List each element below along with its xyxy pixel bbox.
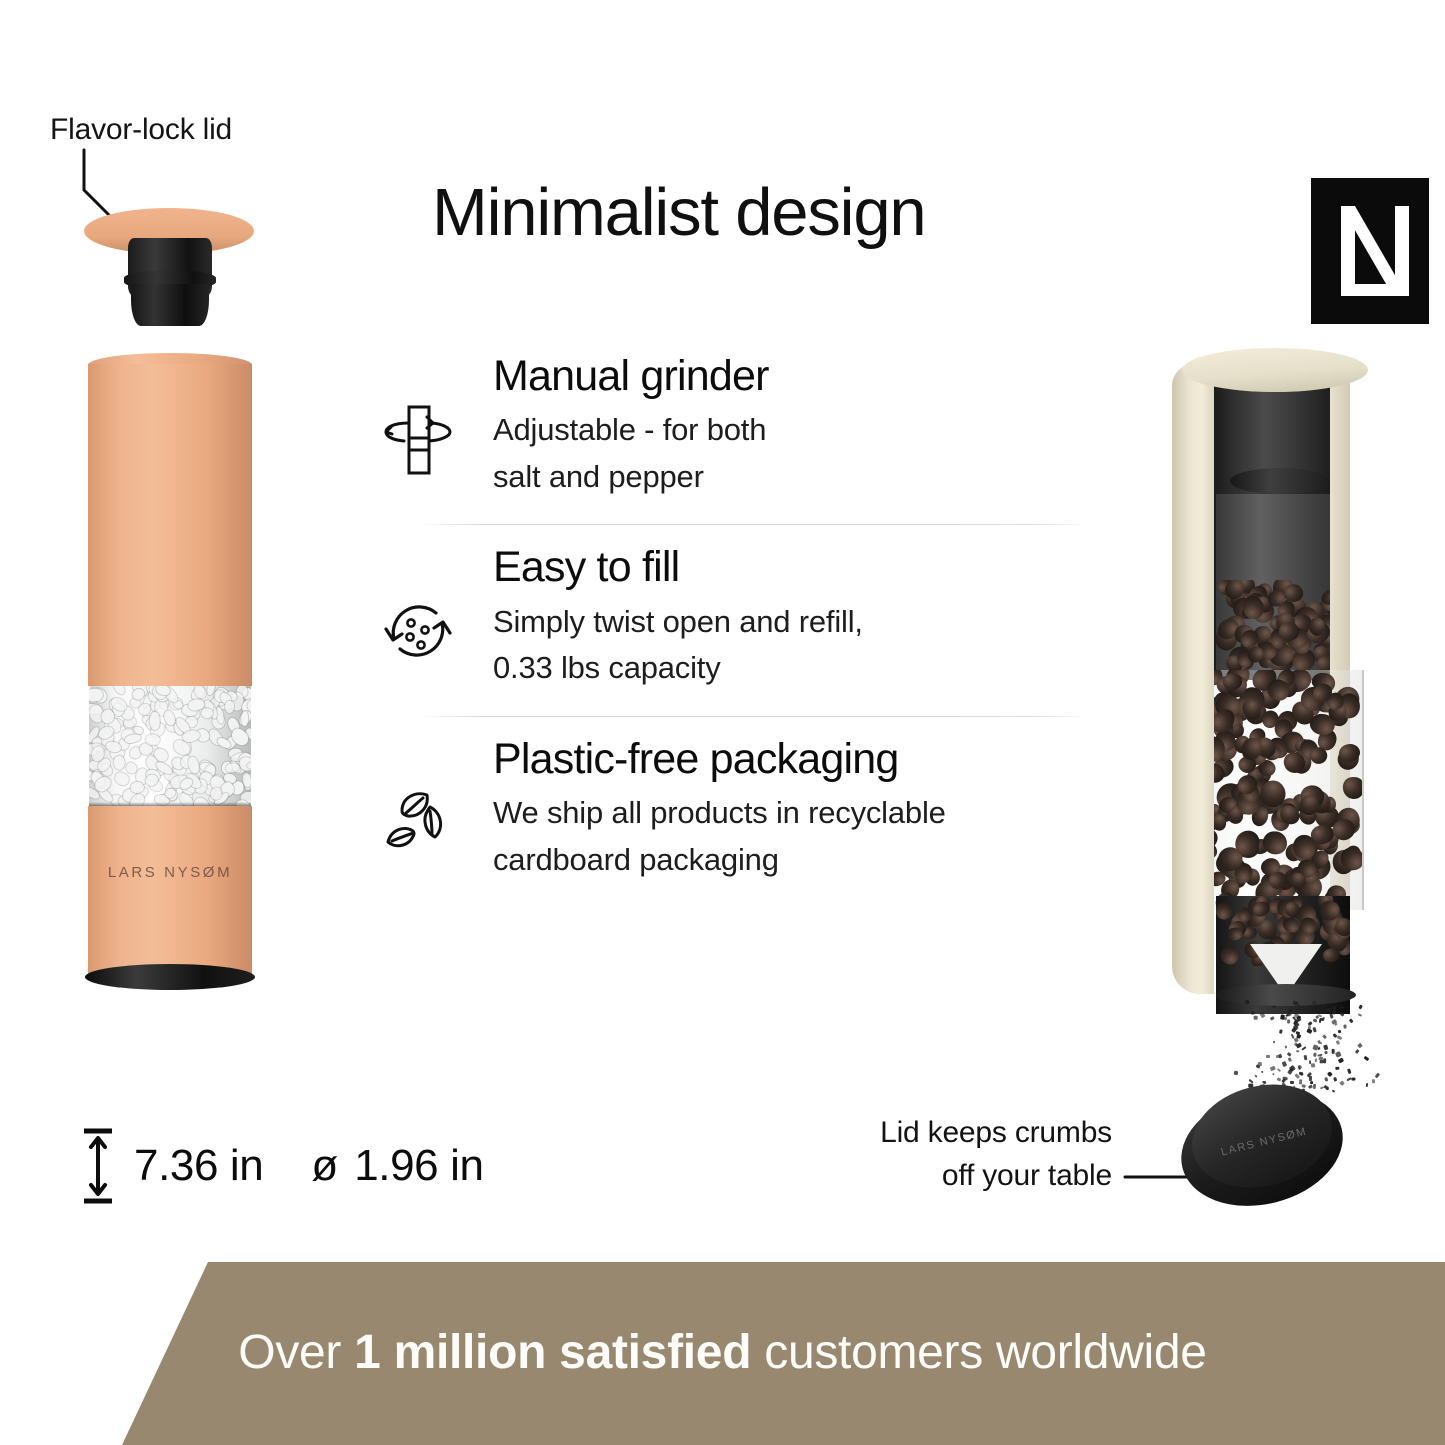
dimension-diameter: ø 1.96 in: [311, 1141, 483, 1191]
dimension-height: 7.36 in: [78, 1126, 263, 1206]
page-title: Minimalist design: [432, 176, 1132, 250]
feature-item-plastic-free: Plastic-free packaging We ship all produ…: [375, 735, 1090, 883]
infographic-page: Minimalist design Flavor-lock lid LARS N…: [0, 0, 1445, 1445]
flavor-lock-lid-label: Flavor-lock lid: [50, 113, 232, 147]
feature-description-line: 0.33 lbs capacity: [493, 645, 1090, 692]
feature-description-line: cardboard packaging: [493, 837, 1090, 884]
brand-logo: [1311, 178, 1429, 324]
feature-description: Adjustable - for both salt and pepper: [493, 407, 1090, 500]
eco-leaves-icon: [375, 773, 461, 873]
mill-upper-body: [88, 364, 252, 686]
cutaway-top-mechanism: [1228, 382, 1334, 478]
product-lid-exploded: [84, 208, 254, 333]
mill-lower-body: [88, 806, 252, 976]
mill-salt-window: [89, 686, 251, 808]
feature-item-manual-grinder: Manual grinder Adjustable - for both sal…: [375, 352, 1090, 500]
banner-emphasis: 1 million satisfied: [354, 1326, 751, 1379]
dimensions-row: 7.36 in ø 1.96 in: [78, 1126, 484, 1206]
feature-text-plastic-free: Plastic-free packaging We ship all produ…: [461, 735, 1090, 883]
height-value: 7.36 in: [134, 1141, 263, 1191]
crumb-lid-label-line: off your table: [824, 1155, 1112, 1198]
ground-pepper-spray: [1215, 1000, 1395, 1090]
mill-base-ring: [85, 964, 255, 990]
height-arrow-icon: [78, 1126, 118, 1206]
crumb-lid-label-line: Lid keeps crumbs: [824, 1112, 1112, 1155]
banner-prefix: Over: [238, 1326, 354, 1379]
cutaway-shell-left: [1172, 364, 1214, 994]
feature-text-easy-to-fill: Easy to fill Simply twist open and refil…: [461, 543, 1090, 691]
feature-divider: [421, 716, 1090, 717]
feature-list: Manual grinder Adjustable - for both sal…: [375, 352, 1090, 883]
bottom-banner-text: Over 1 million satisfied customers world…: [0, 1325, 1445, 1380]
lid-plug-bottom: [131, 284, 209, 326]
feature-description: Simply twist open and refill, 0.33 lbs c…: [493, 599, 1090, 692]
feature-description-line: Adjustable - for both: [493, 407, 1090, 454]
diameter-value: 1.96 in: [354, 1141, 483, 1191]
cutaway-adjust-ring: [1230, 468, 1330, 494]
banner-suffix: customers worldwide: [751, 1326, 1207, 1379]
crumb-lid-label: Lid keeps crumbs off your table: [824, 1112, 1112, 1197]
product-salt-mill: LARS NYSØM: [88, 364, 252, 986]
cutaway-pepper-chamber: [1196, 670, 1364, 910]
feature-item-easy-to-fill: Easy to fill Simply twist open and refil…: [375, 543, 1090, 691]
grinder-rotate-icon: [375, 390, 461, 490]
feature-divider: [421, 524, 1090, 525]
diameter-symbol-icon: ø: [311, 1144, 338, 1188]
product-black-lid: LARS NYSØM: [1180, 1084, 1344, 1212]
feature-title: Easy to fill: [493, 543, 1090, 592]
feature-description-line: salt and pepper: [493, 454, 1090, 501]
feature-description: We ship all products in recyclable cardb…: [493, 790, 1090, 883]
feature-text-manual-grinder: Manual grinder Adjustable - for both sal…: [461, 352, 1090, 500]
feature-description-line: Simply twist open and refill,: [493, 599, 1090, 646]
cutaway-top-cap: [1182, 348, 1368, 392]
cutaway-upper-chamber: [1216, 494, 1346, 670]
refill-cycle-icon: [375, 581, 461, 681]
product-pepper-mill-cutaway: [1172, 348, 1382, 1008]
feature-title: Plastic-free packaging: [493, 735, 1090, 784]
feature-title: Manual grinder: [493, 352, 1090, 401]
feature-description-line: We ship all products in recyclable: [493, 790, 1090, 837]
mill-wordmark: LARS NYSØM: [88, 864, 252, 881]
